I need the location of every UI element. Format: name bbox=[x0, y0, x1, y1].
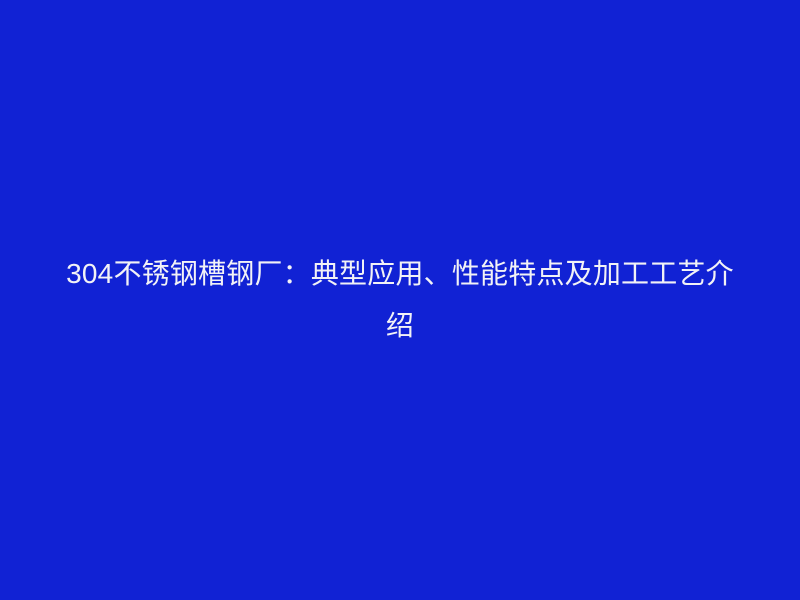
title-block: 304不锈钢槽钢厂：典型应用、性能特点及加工工艺介绍 bbox=[0, 248, 800, 352]
slide-canvas: 304不锈钢槽钢厂：典型应用、性能特点及加工工艺介绍 bbox=[0, 0, 800, 600]
page-title: 304不锈钢槽钢厂：典型应用、性能特点及加工工艺介绍 bbox=[60, 248, 740, 352]
